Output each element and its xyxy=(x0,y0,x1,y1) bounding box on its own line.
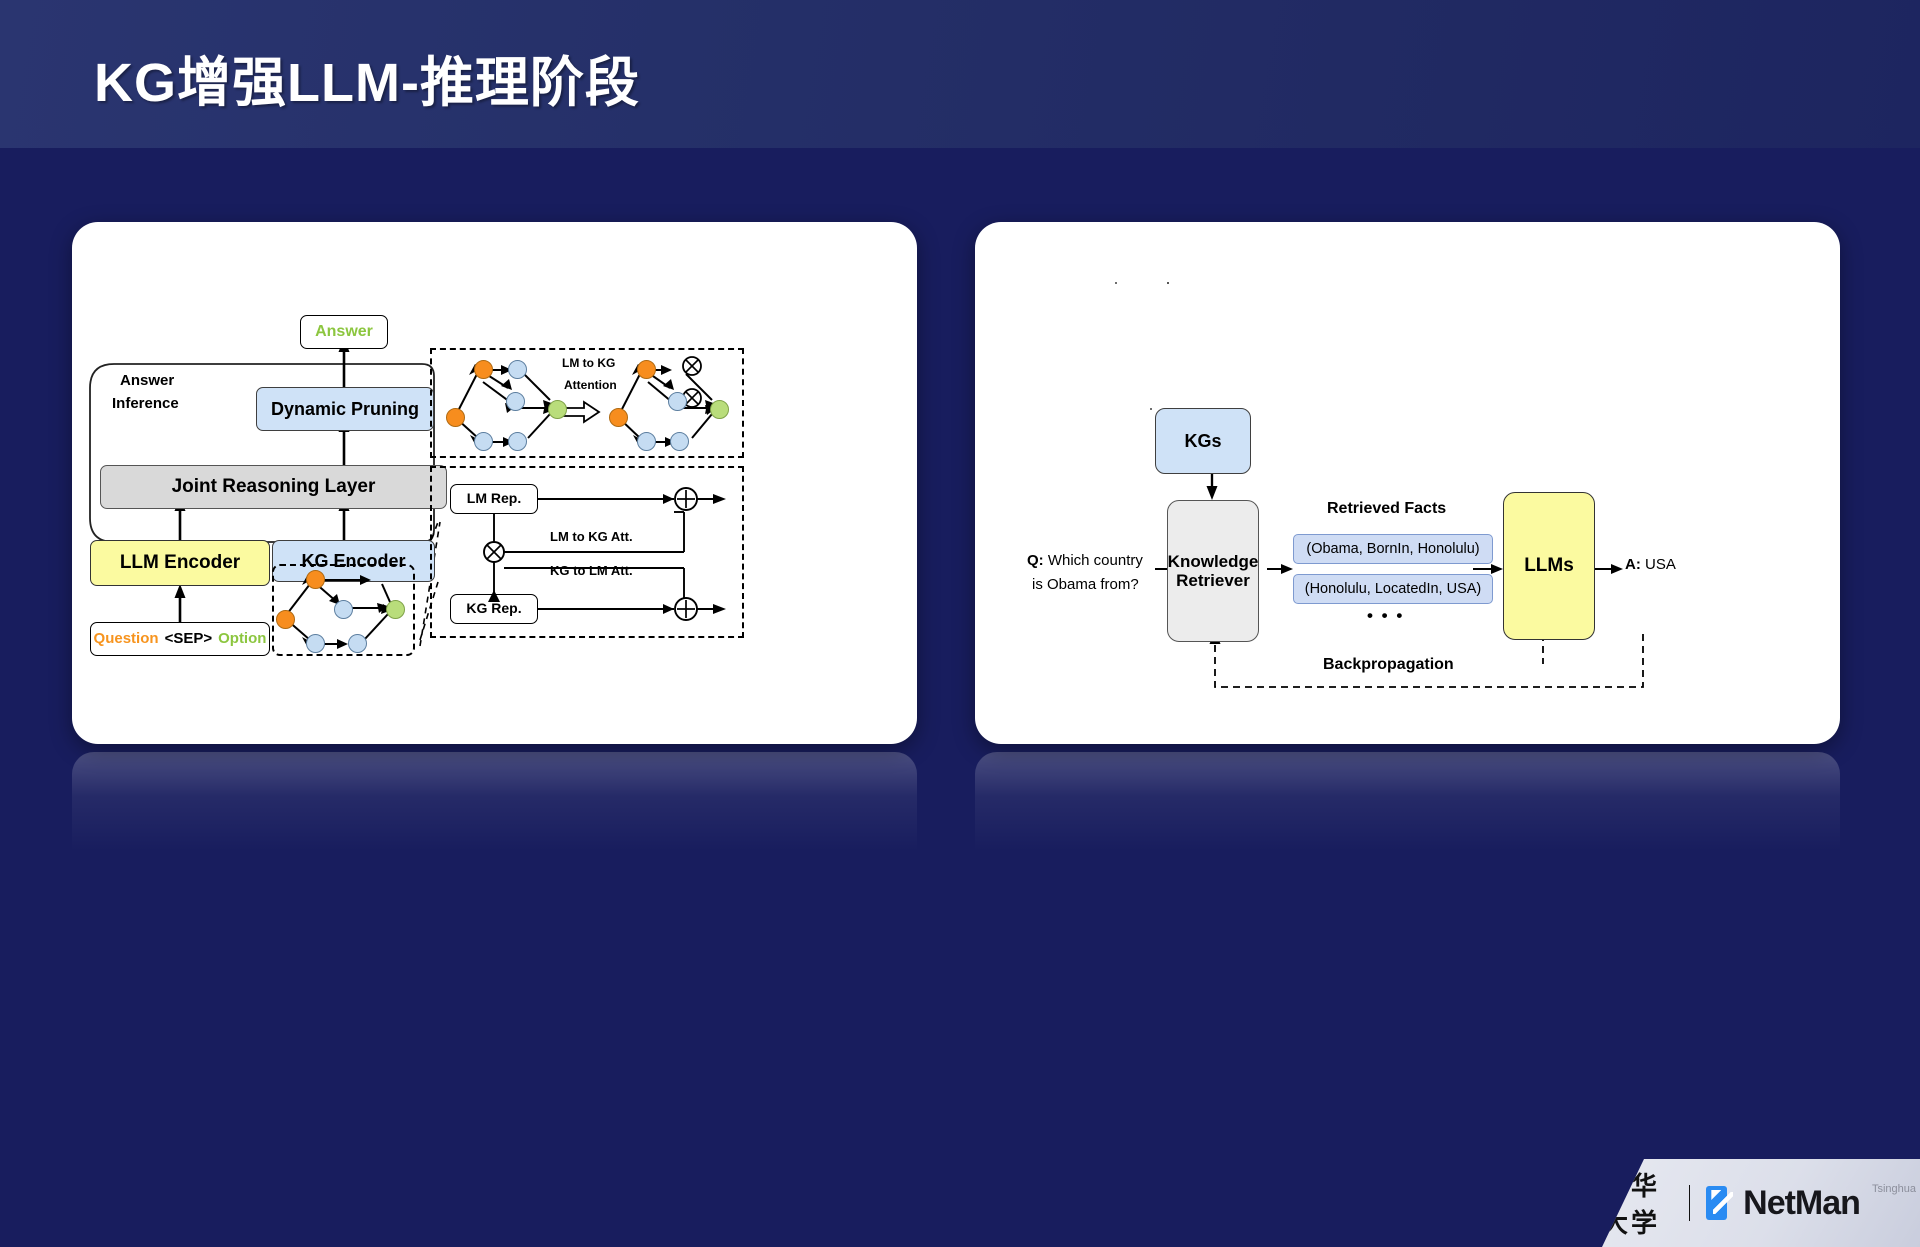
answer-inference-label: Answer xyxy=(120,372,174,389)
netman-logo-icon xyxy=(1706,1186,1727,1220)
lm-to-kg-att-label: LM to KG Att. xyxy=(550,529,633,544)
question-line2: is Obama from? xyxy=(1032,576,1139,593)
att2-node-blue-2 xyxy=(637,432,656,451)
fact-1-text: (Obama, BornIn, Honolulu) xyxy=(1306,541,1479,557)
att-node-blue-1 xyxy=(506,392,525,411)
kg-rep-box: KG Rep. xyxy=(450,594,538,624)
lm-to-kg-attention-label-line2: Attention xyxy=(564,378,617,392)
att-node-green-1 xyxy=(548,400,567,419)
kg-node-blue-2 xyxy=(306,634,325,653)
att-node-blue-4 xyxy=(508,360,527,379)
answer-value: USA xyxy=(1645,556,1676,573)
backpropagation-label: Backpropagation xyxy=(1323,656,1454,674)
fact-2-text: (Honolulu, LocatedIn, USA) xyxy=(1305,581,1482,597)
question-line1: Q: Which country xyxy=(1027,552,1143,569)
kg-node-blue-1 xyxy=(334,600,353,619)
retrieved-facts-title: Retrieved Facts xyxy=(1327,500,1446,518)
kg-node-blue-3 xyxy=(348,634,367,653)
lm-rep-label: LM Rep. xyxy=(467,491,521,507)
att2-node-blue-3 xyxy=(670,432,689,451)
left-diagram-panel: Answer Inference Answer Dynamic Pruning … xyxy=(72,222,917,744)
knowledge-retriever-line2: Retriever xyxy=(1176,571,1250,590)
question-token: Question xyxy=(94,631,159,648)
lm-rep-box: LM Rep. xyxy=(450,484,538,514)
kgs xyxy=(1115,282,1117,284)
llms-box: LLMs xyxy=(1503,492,1595,640)
kg-node-orange-2 xyxy=(306,570,325,589)
answer-inference-label-line2: Inference xyxy=(112,395,179,412)
knowledge-retriever-line1: Knowledge xyxy=(1168,552,1259,571)
question-prefix: Q: xyxy=(1027,552,1044,569)
kg-node-orange-1 xyxy=(276,610,295,629)
joint-reasoning-layer-box: Joint Reasoning Layer xyxy=(100,465,447,509)
fact-box-2: (Honolulu, LocatedIn, USA) xyxy=(1293,574,1493,604)
logo-divider xyxy=(1689,1185,1690,1221)
att-node-blue-2 xyxy=(474,432,493,451)
fact-box-1: (Obama, BornIn, Honolulu) xyxy=(1293,534,1493,564)
input-tokens-box: Question <SEP> Option xyxy=(90,622,270,656)
page-title: KG增强LLM-推理阶段 xyxy=(94,38,640,117)
att-node-orange-1 xyxy=(446,408,465,427)
dynamic-pruning-label: Dynamic Pruning xyxy=(271,399,419,419)
knowledge-retriever-box: Knowledge Retriever xyxy=(1167,500,1259,642)
facts-ellipsis: • • • xyxy=(1367,606,1404,626)
att2-node-orange-2 xyxy=(637,360,656,379)
answer-output: A: USA xyxy=(1625,556,1676,573)
kg-node-green-1 xyxy=(386,600,405,619)
netman-brand-text: NetMan xyxy=(1743,1184,1860,1223)
answer-box-label: Answer xyxy=(315,323,373,341)
dynamic-pruning-box: Dynamic Pruning xyxy=(256,387,434,431)
answer-prefix: A: xyxy=(1625,556,1641,573)
netman-superscript: Tsinghua xyxy=(1872,1183,1916,1195)
att-node-blue-3 xyxy=(508,432,527,451)
kgs-rect: KGs xyxy=(1155,408,1251,474)
lm-to-kg-attention-label-line1: LM to KG xyxy=(562,356,615,370)
kg-to-lm-att-label: KG to LM Att. xyxy=(550,563,633,578)
att2-node-blue-1 xyxy=(668,392,687,411)
sep-token: <SEP> xyxy=(165,631,213,648)
logo-badge: 清华大学 NetMan Tsinghua xyxy=(1602,1159,1920,1247)
answer-inference-label-line1: Answer xyxy=(120,372,174,389)
answer-inference-label-2: Inference xyxy=(112,395,179,412)
joint-reasoning-layer-label: Joint Reasoning Layer xyxy=(172,476,376,497)
llm-encoder-label: LLM Encoder xyxy=(120,552,240,573)
att-node-orange-2 xyxy=(474,360,493,379)
llms-label: LLMs xyxy=(1524,555,1574,576)
answer-box: Answer xyxy=(300,315,388,349)
att2-node-green-1 xyxy=(710,400,729,419)
kgs-box-main xyxy=(1150,408,1152,410)
llm-encoder-box: LLM Encoder xyxy=(90,540,270,586)
option-token: Option xyxy=(218,631,266,648)
right-diagram-panel: KGs Knowledge Retriever Q: Which country… xyxy=(975,222,1840,744)
kg-rep-label: KG Rep. xyxy=(466,601,521,617)
att2-node-orange-1 xyxy=(609,408,628,427)
kgs-box-real xyxy=(1167,282,1169,284)
kgs-label: KGs xyxy=(1184,431,1221,451)
